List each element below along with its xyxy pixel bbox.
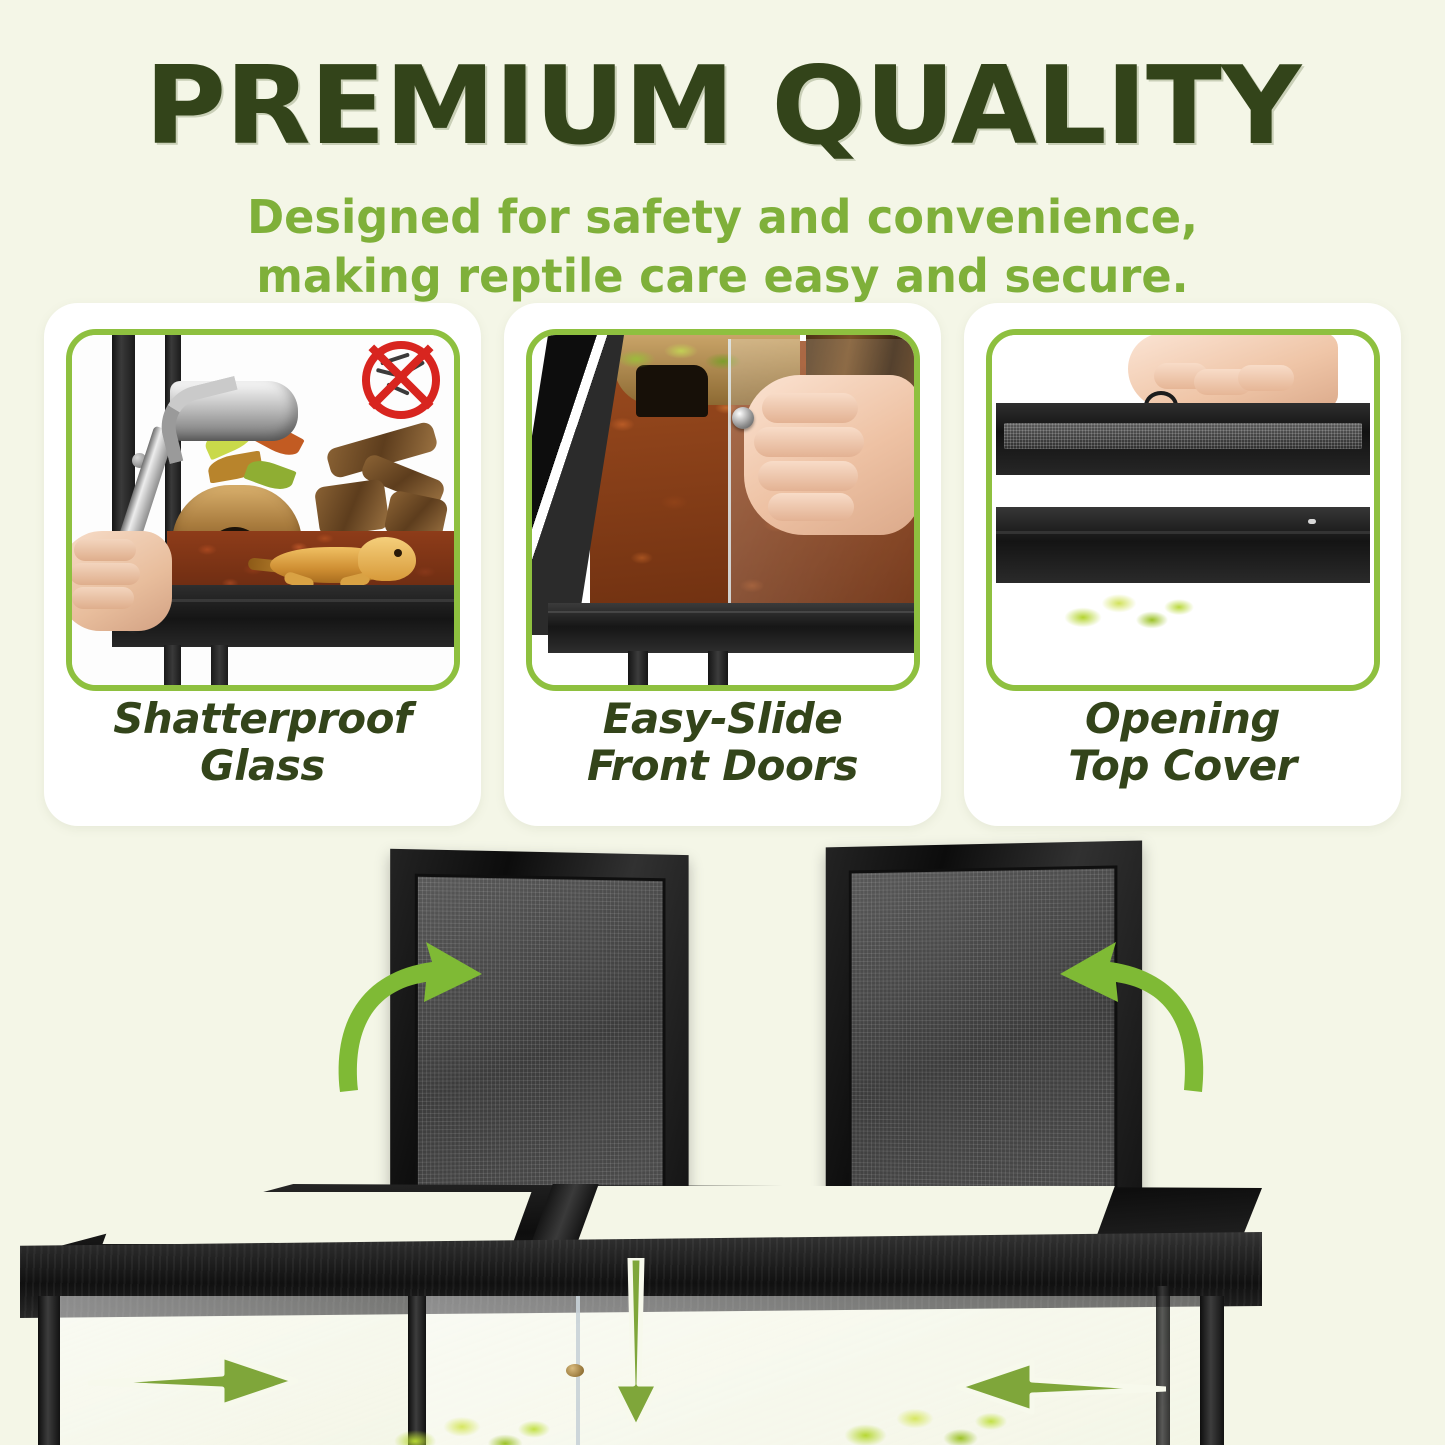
arrow-close-left-lid-icon (326, 928, 486, 1096)
hand-icon (744, 375, 914, 535)
terrarium-top-rail (996, 507, 1370, 583)
plant-decor (372, 1404, 552, 1445)
top-opening-right (575, 1186, 1115, 1240)
feature-card-label: Easy-Slide Front Doors (504, 695, 941, 789)
corner-post (1200, 1296, 1224, 1445)
door-knob-icon[interactable] (566, 1364, 584, 1377)
arrow-close-right-lid-icon (1046, 928, 1216, 1096)
driftwood-decor (317, 421, 445, 541)
shatterproof-glass-photo (72, 335, 454, 685)
feature-card-shatterproof-glass: Shatterproof Glass (44, 303, 481, 826)
door-knob-icon (732, 407, 754, 429)
feature-photo-frame (986, 329, 1380, 691)
rail-highlight (1308, 519, 1316, 524)
arrow-slide-door-right-icon (88, 1352, 298, 1410)
subheadline-line-2: making reptile care easy and secure. (22, 247, 1424, 306)
feature-photo-frame (66, 329, 460, 691)
mesh-top-cover (996, 403, 1370, 475)
feature-label-line-2: Front Doors (504, 742, 941, 789)
plant-decor (1050, 579, 1200, 643)
opening-top-cover-photo (992, 335, 1374, 685)
easy-slide-front-doors-photo (532, 335, 914, 685)
corner-post (38, 1296, 60, 1445)
feature-label-line-1: Opening (964, 695, 1401, 742)
feature-card-label: Opening Top Cover (964, 695, 1401, 789)
page-headline: PREMIUM QUALITY (0, 52, 1445, 162)
arrow-slide-door-left-icon (948, 1358, 1166, 1416)
arrow-door-down-icon (604, 1258, 668, 1430)
top-opening-left (103, 1192, 532, 1244)
feature-card-row: Shatterproof Glass (44, 303, 1401, 826)
feature-label-line-1: Easy-Slide (504, 695, 941, 742)
terrarium-leg (211, 645, 228, 685)
feature-label-line-2: Top Cover (964, 742, 1401, 789)
feature-photo-frame (526, 329, 920, 691)
feature-card-easy-slide-front-doors: Easy-Slide Front Doors (504, 303, 941, 826)
feature-card-label: Shatterproof Glass (44, 695, 481, 789)
terrarium-base-rail (548, 603, 914, 653)
subheadline-line-1: Designed for safety and convenience, (22, 188, 1424, 247)
feature-label-line-2: Glass (44, 742, 481, 789)
no-crack-prohibition-icon (362, 341, 440, 419)
mesh-screen (1004, 423, 1362, 449)
page-subheadline: Designed for safety and convenience, mak… (22, 188, 1424, 306)
terrarium-leg (708, 651, 728, 685)
terrarium-leg (628, 651, 648, 685)
hand-icon (72, 531, 172, 631)
feature-card-opening-top-cover: Opening Top Cover (964, 303, 1401, 826)
terrarium-leg (164, 645, 181, 685)
marketing-banner: PREMIUM QUALITY Designed for safety and … (0, 0, 1445, 1445)
feature-label-line-1: Shatterproof (44, 695, 481, 742)
